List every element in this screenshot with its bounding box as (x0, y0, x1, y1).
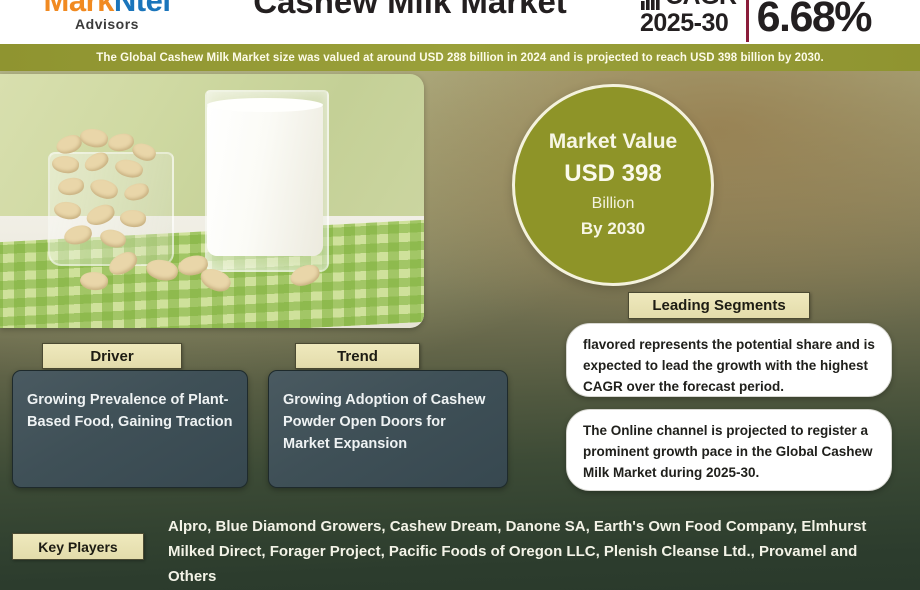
driver-text: Growing Prevalence of Plant-Based Food, … (27, 389, 233, 433)
summary-banner-text: The Global Cashew Milk Market size was v… (96, 52, 823, 64)
market-value-year: By 2030 (581, 216, 645, 242)
header-bar: MarkNtel Advisors Cashew Milk Market CAG… (0, 0, 920, 44)
cagr-left-column: CAGR 2025-30 (640, 0, 737, 37)
page-title: Cashew Milk Market (200, 0, 620, 24)
cagr-period: 2025-30 (640, 10, 737, 37)
key-players-chip: Key Players (12, 533, 144, 560)
driver-card: Growing Prevalence of Plant-Based Food, … (12, 370, 248, 488)
leading-segment-text: The Online channel is projected to regis… (583, 420, 875, 483)
cagr-divider (746, 0, 749, 42)
cagr-value: 6.68% (757, 0, 871, 42)
market-value-amount: USD 398 (564, 156, 661, 192)
driver-chip: Driver (42, 343, 182, 369)
company-logo[interactable]: MarkNtel Advisors (22, 0, 192, 32)
photo-milk-liquid (207, 104, 323, 256)
photo-milk-surface (207, 98, 323, 112)
trend-card: Growing Adoption of Cashew Powder Open D… (268, 370, 508, 488)
logo-subtitle: Advisors (22, 17, 192, 32)
hero-photo (0, 74, 424, 328)
trend-chip: Trend (295, 343, 420, 369)
leading-segment-text: flavored represents the potential share … (583, 334, 875, 397)
key-players-list: Alpro, Blue Diamond Growers, Cashew Drea… (168, 514, 898, 589)
trend-text: Growing Adoption of Cashew Powder Open D… (283, 389, 493, 455)
infographic-root: MarkNtel Advisors Cashew Milk Market CAG… (0, 0, 920, 590)
market-value-label: Market Value (549, 128, 677, 156)
cagr-block: CAGR 2025-30 6.68% (640, 0, 871, 42)
market-value-unit: Billion (592, 192, 635, 216)
leading-segment-bubble: flavored represents the potential share … (566, 323, 892, 397)
leading-segment-bubble: The Online channel is projected to regis… (566, 409, 892, 491)
leading-segments-chip: Leading Segments (628, 292, 810, 319)
market-value-circle: Market Value USD 398 Billion By 2030 (512, 84, 714, 286)
summary-banner: The Global Cashew Milk Market size was v… (0, 44, 920, 71)
